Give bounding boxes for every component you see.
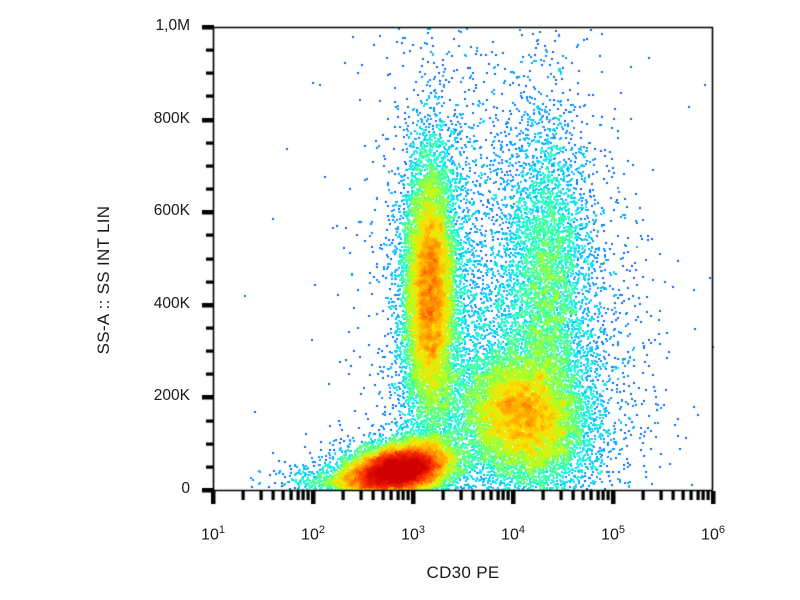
x-tick-mantissa: 10: [401, 526, 419, 543]
y-tick-label: 0: [181, 480, 190, 498]
x-tick-mantissa: 10: [601, 526, 619, 543]
y-axis-tick-labels: 0200K400K600K800K1,0M: [100, 0, 190, 600]
x-tick-mantissa: 10: [701, 526, 719, 543]
y-tick-label: 1,0M: [156, 17, 190, 35]
x-tick-label: 106: [701, 524, 725, 544]
x-tick-exponent: 6: [719, 524, 725, 536]
flow-cytometry-plot: SS-A :: SS INT LIN CD30 PE 0200K400K600K…: [0, 0, 800, 600]
x-tick-exponent: 1: [219, 524, 225, 536]
y-tick-label: 400K: [154, 295, 190, 313]
x-tick-label: 104: [501, 524, 525, 544]
y-tick-label: 200K: [154, 387, 190, 405]
y-tick-label: 600K: [154, 202, 190, 220]
x-tick-label: 101: [201, 524, 225, 544]
x-tick-mantissa: 10: [301, 526, 319, 543]
y-tick-label: 800K: [154, 110, 190, 128]
x-tick-exponent: 3: [419, 524, 425, 536]
x-tick-label: 105: [601, 524, 625, 544]
x-tick-mantissa: 10: [201, 526, 219, 543]
x-tick-exponent: 2: [319, 524, 325, 536]
x-tick-mantissa: 10: [501, 526, 519, 543]
x-axis-tick-labels: 101102103104105106: [0, 524, 800, 564]
x-tick-exponent: 5: [619, 524, 625, 536]
x-axis-title: CD30 PE: [213, 563, 713, 583]
x-tick-exponent: 4: [519, 524, 525, 536]
x-tick-label: 102: [301, 524, 325, 544]
x-tick-label: 103: [401, 524, 425, 544]
